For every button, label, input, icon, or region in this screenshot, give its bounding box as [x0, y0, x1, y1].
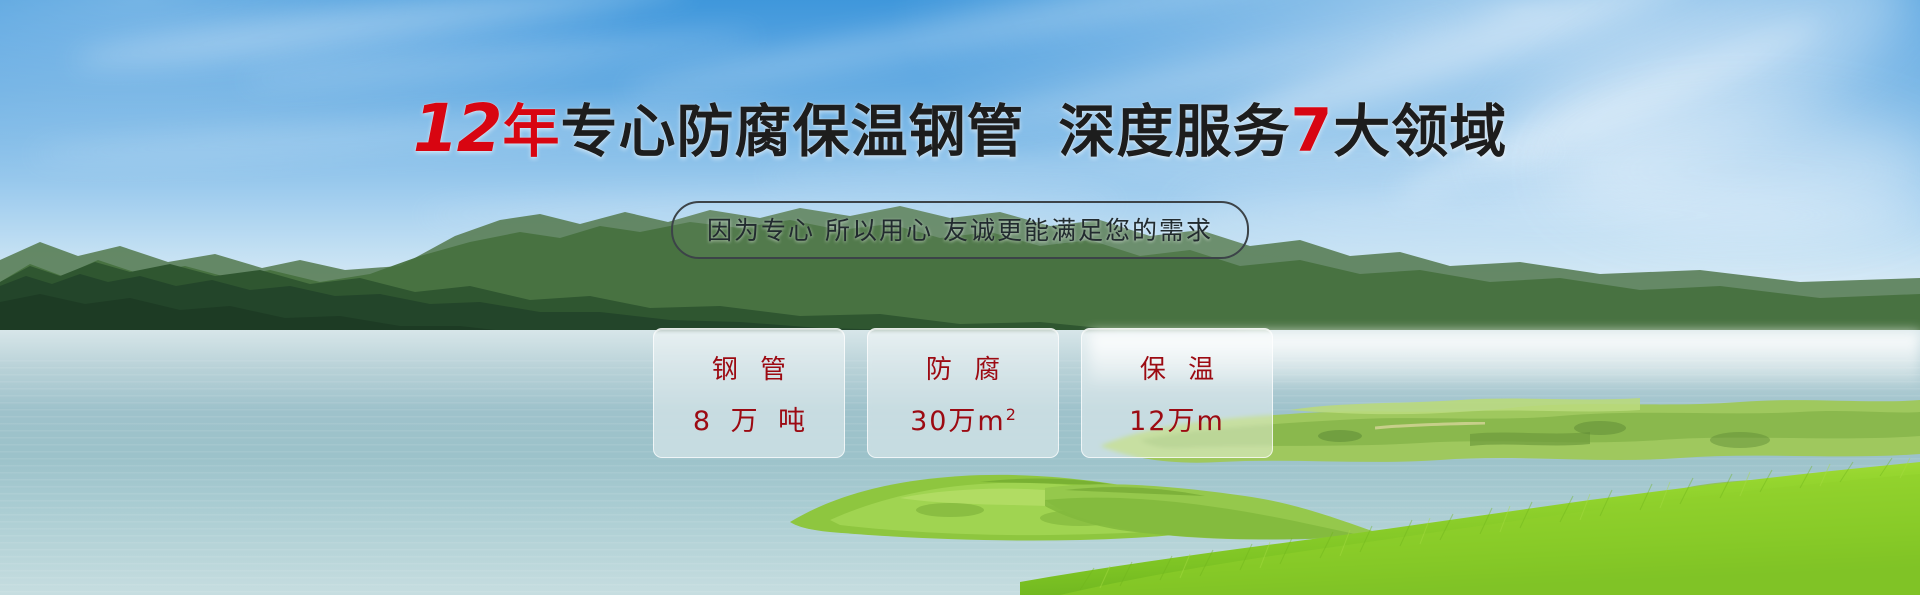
headline: 12年专心防腐保温钢管深度服务7大领域: [0, 86, 1920, 168]
headline-fields-text: 大领域: [1333, 99, 1507, 165]
stat-label: 保 温: [1133, 349, 1221, 386]
foreground-grass-bank: [1020, 450, 1920, 595]
stat-value-superscript: 2: [1006, 405, 1016, 424]
subtitle-pill: 因为专心 所以用心 友诚更能满足您的需求: [671, 201, 1249, 259]
stat-card-steel-pipe: 钢 管 8 万 吨: [653, 328, 845, 458]
reed-streak: [1375, 422, 1485, 432]
subtitle-text: 因为专心 所以用心 友诚更能满足您的需求: [707, 216, 1213, 245]
headline-years-number: 12: [413, 90, 503, 167]
stat-card-insulation: 保 温 12万m: [1081, 328, 1273, 458]
stat-value: 12万m: [1129, 399, 1225, 438]
stat-value: 8 万 吨: [687, 399, 811, 438]
stat-value-main: 30万m: [910, 406, 1006, 437]
stat-card-anticorrosion: 防 腐 30万m2: [867, 328, 1059, 458]
headline-service-text: 深度服务: [1059, 99, 1291, 165]
stat-value: 30万m2: [910, 399, 1016, 438]
hero-banner: 12年专心防腐保温钢管深度服务7大领域 因为专心 所以用心 友诚更能满足您的需求…: [0, 0, 1920, 595]
stat-card-group: 钢 管 8 万 吨 防 腐 30万m2 保 温 12万m: [653, 328, 1273, 458]
headline-main-text: 专心防腐保温钢管: [561, 99, 1025, 165]
stat-label: 钢 管: [705, 349, 793, 386]
headline-years-unit: 年: [503, 99, 561, 165]
stat-label: 防 腐: [919, 349, 1007, 386]
headline-fields-number: 7: [1291, 96, 1334, 166]
